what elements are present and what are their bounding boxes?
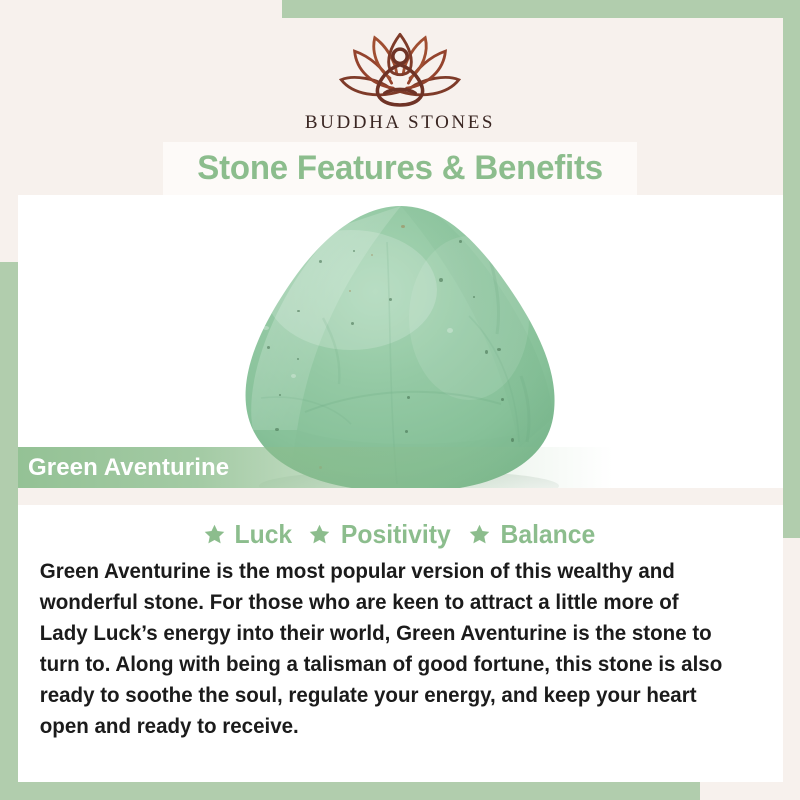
stone-speck: [439, 278, 443, 282]
stone-speck: [401, 225, 405, 228]
stone-name-label: Green Aventurine: [18, 447, 613, 488]
benefit-label: Luck: [235, 519, 293, 550]
content-card: Luck Positivity Balance Green: [18, 505, 783, 782]
stone-speck: [267, 346, 270, 349]
star-icon: [468, 523, 491, 546]
stone-speck: [279, 394, 281, 396]
stone-fleck: [263, 326, 269, 330]
stone-speck: [473, 296, 475, 298]
brand-logo-block: BUDDHA STONES: [0, 18, 800, 140]
section-separator: [18, 488, 783, 505]
frame-band-left: [0, 262, 18, 800]
stone-fleck: [447, 328, 453, 333]
poster-root: BUDDHA STONES Stone Features & Benefits: [0, 0, 800, 800]
lotus-meditation-icon: [316, 26, 484, 110]
stone-speck: [407, 396, 410, 399]
stone-speck: [459, 240, 462, 243]
frame-band-bottom: [0, 782, 700, 800]
star-icon: [308, 523, 331, 546]
product-photo: [18, 195, 783, 488]
stone-speck: [501, 398, 504, 401]
stone-speck: [511, 438, 514, 442]
stone-fleck: [291, 374, 296, 378]
stone-speck: [371, 254, 373, 256]
stone-image: [201, 198, 601, 488]
benefit-item-positivity: Positivity: [308, 519, 454, 550]
stone-speck: [319, 260, 322, 263]
benefit-item-balance: Balance: [468, 519, 598, 550]
stone-speck: [297, 358, 299, 360]
benefits-row: Luck Positivity Balance: [34, 519, 767, 550]
brand-name: BUDDHA STONES: [305, 112, 495, 134]
stone-speck: [351, 322, 354, 325]
stone-speck: [353, 250, 355, 252]
benefit-item-luck: Luck: [203, 519, 294, 550]
title-banner: Stone Features & Benefits: [163, 142, 637, 195]
stone-speck: [275, 428, 279, 431]
benefit-label: Positivity: [341, 519, 451, 550]
benefit-label: Balance: [500, 519, 595, 550]
stone-speck: [497, 348, 501, 351]
page-title: Stone Features & Benefits: [197, 149, 603, 188]
star-icon: [203, 523, 226, 546]
description-text: Green Aventurine is the most popular ver…: [34, 556, 734, 742]
stone-speck: [485, 350, 488, 354]
stone-speck: [349, 290, 351, 292]
frame-band-top: [282, 0, 800, 18]
stone-name-text: Green Aventurine: [28, 454, 229, 482]
stone-speck: [389, 298, 392, 301]
stone-speck: [405, 430, 408, 433]
stone-speck: [297, 310, 300, 312]
